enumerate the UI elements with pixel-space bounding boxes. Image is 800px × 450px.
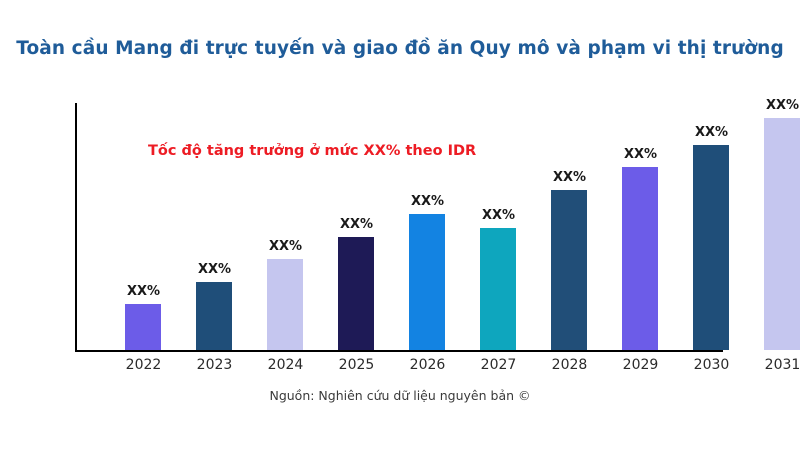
bar-value-label: XX% xyxy=(747,98,800,113)
cagr-annotation: Tốc độ tăng trưởng ở mức XX% theo IDR xyxy=(148,143,476,159)
bar[interactable] xyxy=(480,228,516,350)
x-axis-tick-label: 2022 xyxy=(108,357,179,373)
chart-title: Toàn cầu Mang đi trực tuyến và giao đồ ă… xyxy=(0,38,800,59)
bar-value-label: XX% xyxy=(392,194,463,209)
bar-value-label: XX% xyxy=(534,170,605,185)
x-axis-tick-label: 2027 xyxy=(463,357,534,373)
bar-value-label: XX% xyxy=(250,239,321,254)
bar-value-label: XX% xyxy=(605,147,676,162)
x-axis-tick-label: 2031 xyxy=(747,357,800,373)
x-axis-tick-label: 2026 xyxy=(392,357,463,373)
x-axis-tick-label: 2025 xyxy=(321,357,392,373)
bar-value-label: XX% xyxy=(179,262,250,277)
bar[interactable] xyxy=(693,145,729,350)
bar[interactable] xyxy=(196,282,232,350)
x-axis-tick-label: 2029 xyxy=(605,357,676,373)
bar[interactable] xyxy=(409,214,445,350)
source-note: Nguồn: Nghiên cứu dữ liệu nguyên bản © xyxy=(0,388,800,403)
bar[interactable] xyxy=(551,190,587,350)
bar-value-label: XX% xyxy=(321,217,392,232)
x-axis-line xyxy=(75,350,723,352)
x-axis-tick-label: 2030 xyxy=(676,357,747,373)
bar[interactable] xyxy=(267,259,303,350)
bar[interactable] xyxy=(622,167,658,350)
chart-container: Toàn cầu Mang đi trực tuyến và giao đồ ă… xyxy=(0,0,800,450)
x-axis-tick-label: 2023 xyxy=(179,357,250,373)
bar[interactable] xyxy=(338,237,374,350)
bar-value-label: XX% xyxy=(108,284,179,299)
bar[interactable] xyxy=(125,304,161,350)
bar[interactable] xyxy=(764,118,800,350)
bar-value-label: XX% xyxy=(676,125,747,140)
x-axis-tick-label: 2028 xyxy=(534,357,605,373)
plot-area: XX%XX%XX%XX%XX%XX%XX%XX%XX%XX% xyxy=(75,80,785,350)
x-axis-tick-label: 2024 xyxy=(250,357,321,373)
bar-value-label: XX% xyxy=(463,208,534,223)
